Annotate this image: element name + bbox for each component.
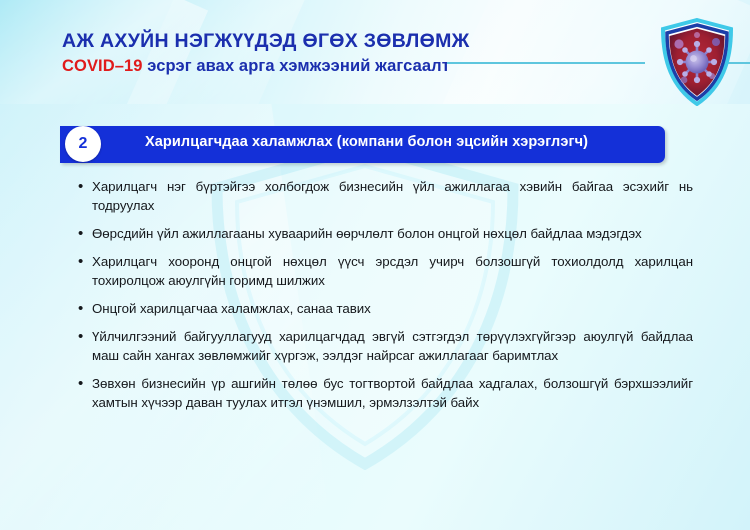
covid-label: COVID–19 [62,57,143,75]
section-title: Харилцагчдаа халамжлах (компани болон эц… [145,134,665,150]
list-item: • Үйлчилгээний байгууллагууд харилцагчда… [78,327,693,365]
page-title: АЖ АХУЙН НЭГЖҮҮДЭД ӨГӨХ ЗӨВЛӨМЖ [62,30,470,53]
list-item: • Зөвхөн бизнесийн үр ашгийн төлөө бус т… [78,374,693,412]
bullet-marker-icon: • [78,327,92,346]
covid-shield-logo-icon [660,18,734,106]
list-item: • Онцгой харилцагчаа халамжлах, санаа та… [78,299,693,318]
bullet-marker-icon: • [78,374,92,393]
list-item-text: Үйлчилгээний байгууллагууд харилцагчдад … [92,327,693,365]
bullet-marker-icon: • [78,224,92,243]
list-item-text: Өөрсдийн үйл ажиллагааны хуваарийн өөрчл… [92,224,693,243]
page-subtitle-rest: эсрэг авах арга хэмжээний жагсаалт [143,57,450,75]
list-item-text: Харилцагч нэг бүртэйгээ холбогдож бизнес… [92,177,693,215]
header-divider-left [447,62,645,64]
recommendation-list: • Харилцагч нэг бүртэйгээ холбогдож бизн… [78,177,693,421]
section-number-badge: 2 [65,126,101,162]
bullet-marker-icon: • [78,299,92,318]
section-number: 2 [79,136,88,152]
list-item-text: Харилцагч хооронд онцгой нөхцөл үүсч эрс… [92,252,693,290]
bullet-marker-icon: • [78,177,92,196]
list-item: • Харилцагч нэг бүртэйгээ холбогдож бизн… [78,177,693,215]
list-item-text: Зөвхөн бизнесийн үр ашгийн төлөө бус тог… [92,374,693,412]
list-item-text: Онцгой харилцагчаа халамжлах, санаа тави… [92,299,693,318]
page-subtitle: COVID–19 эсрэг авах арга хэмжээний жагса… [62,57,450,76]
list-item: • Өөрсдийн үйл ажиллагааны хуваарийн өөр… [78,224,693,243]
list-item: • Харилцагч хооронд онцгой нөхцөл үүсч э… [78,252,693,290]
bullet-marker-icon: • [78,252,92,271]
slide-root: АЖ АХУЙН НЭГЖҮҮДЭД ӨГӨХ ЗӨВЛӨМЖ COVID–19… [0,0,750,530]
